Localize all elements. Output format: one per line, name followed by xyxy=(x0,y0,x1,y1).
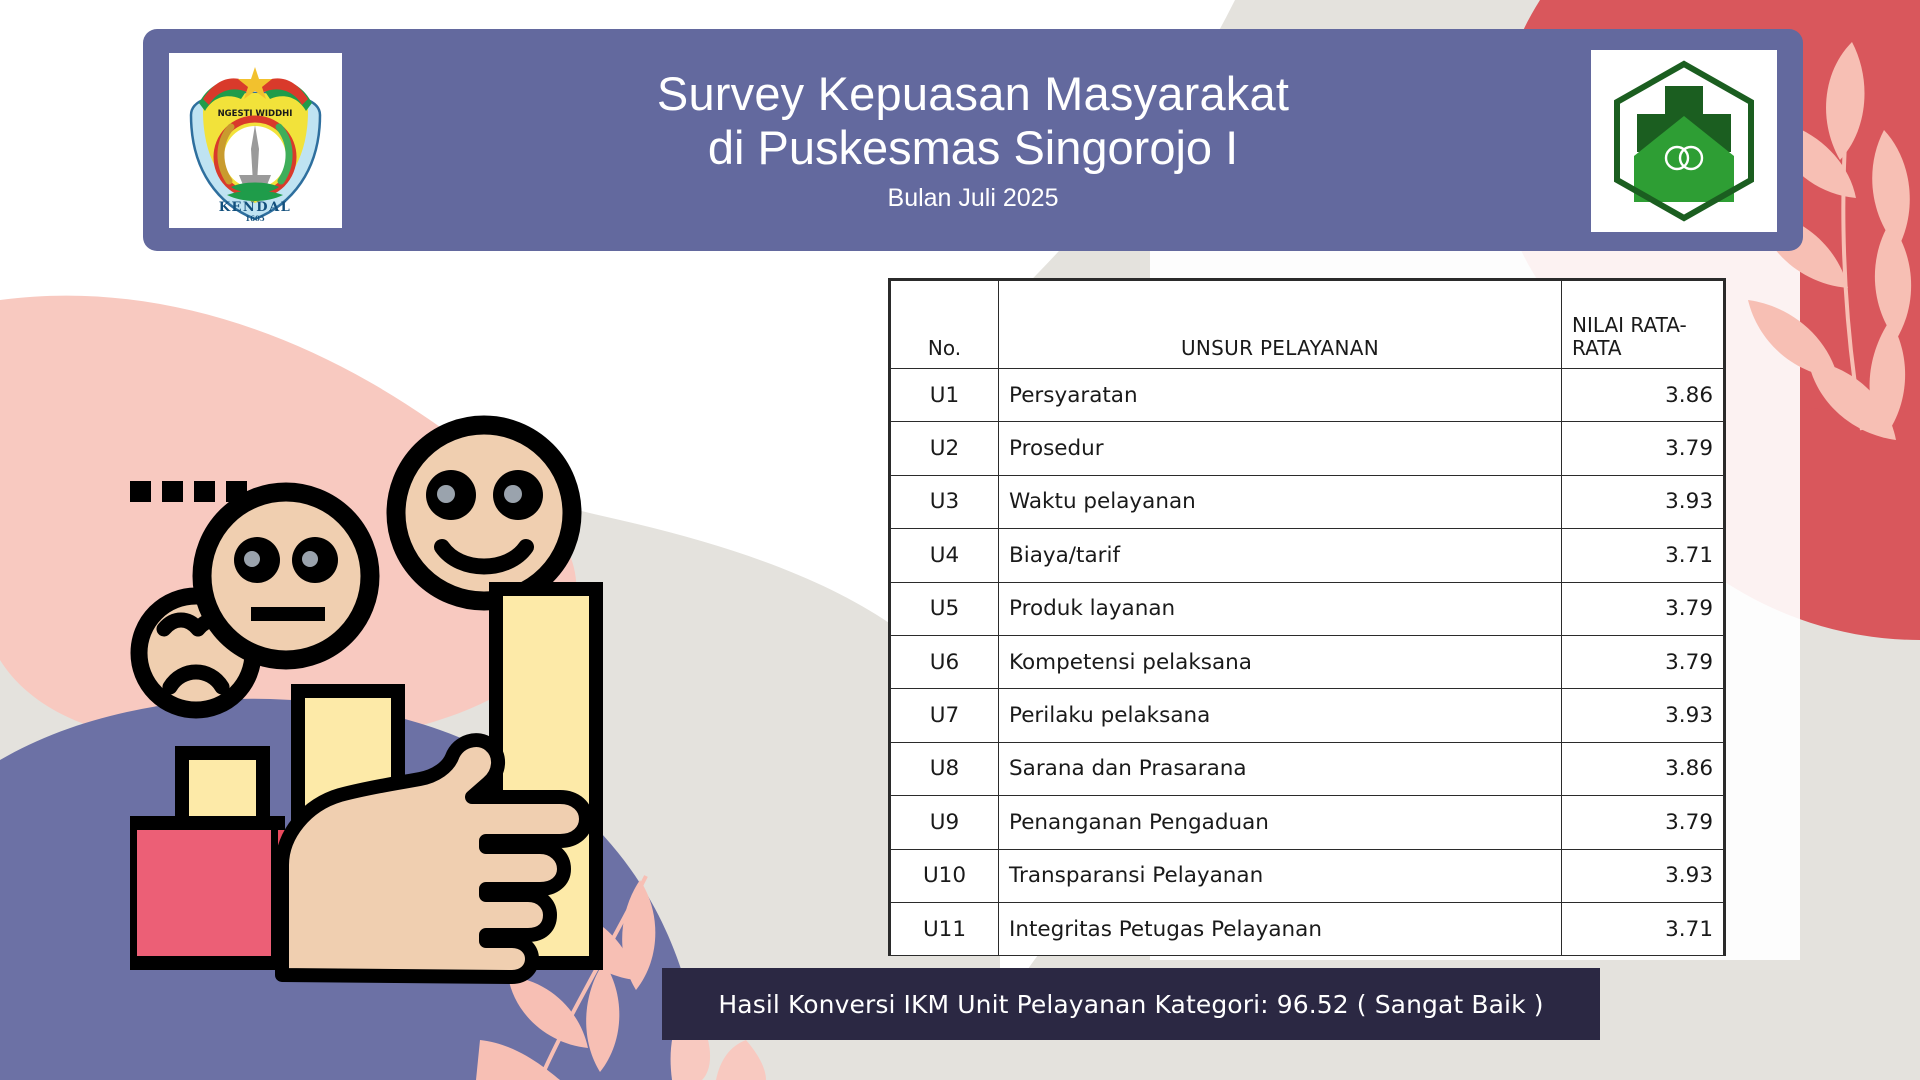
column-header-no: No. xyxy=(891,281,999,369)
page-title-line1: Survey Kepuasan Masyarakat xyxy=(657,67,1289,120)
row-unsur: Perilaku pelaksana xyxy=(999,689,1562,742)
table-row: U3 Waktu pelayanan 3.93 xyxy=(891,475,1724,528)
svg-text:KENDAL: KENDAL xyxy=(219,200,292,215)
logo-box xyxy=(1591,50,1777,232)
table-row: U5 Produk layanan 3.79 xyxy=(891,582,1724,635)
row-no: U5 xyxy=(891,582,999,635)
page-subtitle-month: Bulan Juli 2025 xyxy=(888,184,1059,213)
row-nilai: 3.93 xyxy=(1562,689,1724,742)
row-unsur: Sarana dan Prasarana xyxy=(999,742,1562,795)
page-title-line2: di Puskesmas Singorojo I xyxy=(708,121,1238,174)
header-banner: NGESTI WIDDHI KENDAL 1605 Survey Kepuasa… xyxy=(143,29,1803,251)
row-nilai: 3.79 xyxy=(1562,422,1724,475)
row-no: U7 xyxy=(891,689,999,742)
table-row: U7 Perilaku pelaksana 3.93 xyxy=(891,689,1724,742)
row-no: U1 xyxy=(891,369,999,422)
row-no: U4 xyxy=(891,529,999,582)
table-header-row: No. UNSUR PELAYANAN NILAI RATA-RATA xyxy=(891,281,1724,369)
neutral-face-icon xyxy=(202,492,370,660)
column-header-unsur: UNSUR PELAYANAN xyxy=(999,281,1562,369)
row-nilai: 3.79 xyxy=(1562,582,1724,635)
row-no: U10 xyxy=(891,849,999,902)
satisfaction-survey-illustration xyxy=(130,395,710,985)
row-nilai: 3.86 xyxy=(1562,369,1724,422)
row-no: U11 xyxy=(891,902,999,955)
happy-face-icon xyxy=(396,425,572,601)
kendal-regency-crest-icon: NGESTI WIDDHI KENDAL 1605 xyxy=(169,53,342,228)
table-row: U10 Transparansi Pelayanan 3.93 xyxy=(891,849,1724,902)
table-row: U1 Persyaratan 3.86 xyxy=(891,369,1724,422)
row-unsur: Produk layanan xyxy=(999,582,1562,635)
row-unsur: Waktu pelayanan xyxy=(999,475,1562,528)
row-unsur: Biaya/tarif xyxy=(999,529,1562,582)
crest-box: NGESTI WIDDHI KENDAL 1605 xyxy=(169,53,342,228)
row-unsur: Kompetensi pelaksana xyxy=(999,635,1562,688)
ikm-table: No. UNSUR PELAYANAN NILAI RATA-RATA U1 P… xyxy=(888,278,1726,956)
header-title-group: Survey Kepuasan Masyarakat di Puskesmas … xyxy=(383,29,1563,251)
ikm-result-text: Hasil Konversi IKM Unit Pelayanan Katego… xyxy=(718,990,1543,1019)
puskesmas-logo-icon xyxy=(1591,50,1777,232)
table-row: U9 Penanganan Pengaduan 3.79 xyxy=(891,796,1724,849)
row-nilai: 3.93 xyxy=(1562,475,1724,528)
table-row: U11 Integritas Petugas Pelayanan 3.71 xyxy=(891,902,1724,955)
row-no: U9 xyxy=(891,796,999,849)
table-row: U4 Biaya/tarif 3.71 xyxy=(891,529,1724,582)
row-no: U6 xyxy=(891,635,999,688)
row-unsur: Persyaratan xyxy=(999,369,1562,422)
table-row: U8 Sarana dan Prasarana 3.86 xyxy=(891,742,1724,795)
row-unsur: Transparansi Pelayanan xyxy=(999,849,1562,902)
row-nilai: 3.93 xyxy=(1562,849,1724,902)
table-body: U1 Persyaratan 3.86 U2 Prosedur 3.79 U3 … xyxy=(891,369,1724,956)
row-no: U3 xyxy=(891,475,999,528)
table-row: U6 Kompetensi pelaksana 3.79 xyxy=(891,635,1724,688)
row-no: U2 xyxy=(891,422,999,475)
row-no: U8 xyxy=(891,742,999,795)
dashed-marks-icon xyxy=(130,481,247,502)
row-nilai: 3.79 xyxy=(1562,796,1724,849)
row-nilai: 3.71 xyxy=(1562,902,1724,955)
row-nilai: 3.86 xyxy=(1562,742,1724,795)
footer-banner: Hasil Konversi IKM Unit Pelayanan Katego… xyxy=(662,968,1600,1040)
table-row: U2 Prosedur 3.79 xyxy=(891,422,1724,475)
row-unsur: Penanganan Pengaduan xyxy=(999,796,1562,849)
row-nilai: 3.71 xyxy=(1562,529,1724,582)
svg-text:1605: 1605 xyxy=(245,214,265,223)
bar-low-red xyxy=(130,753,298,963)
column-header-nilai: NILAI RATA-RATA xyxy=(1562,281,1724,369)
row-nilai: 3.79 xyxy=(1562,635,1724,688)
row-unsur: Integritas Petugas Pelayanan xyxy=(999,902,1562,955)
row-unsur: Prosedur xyxy=(999,422,1562,475)
